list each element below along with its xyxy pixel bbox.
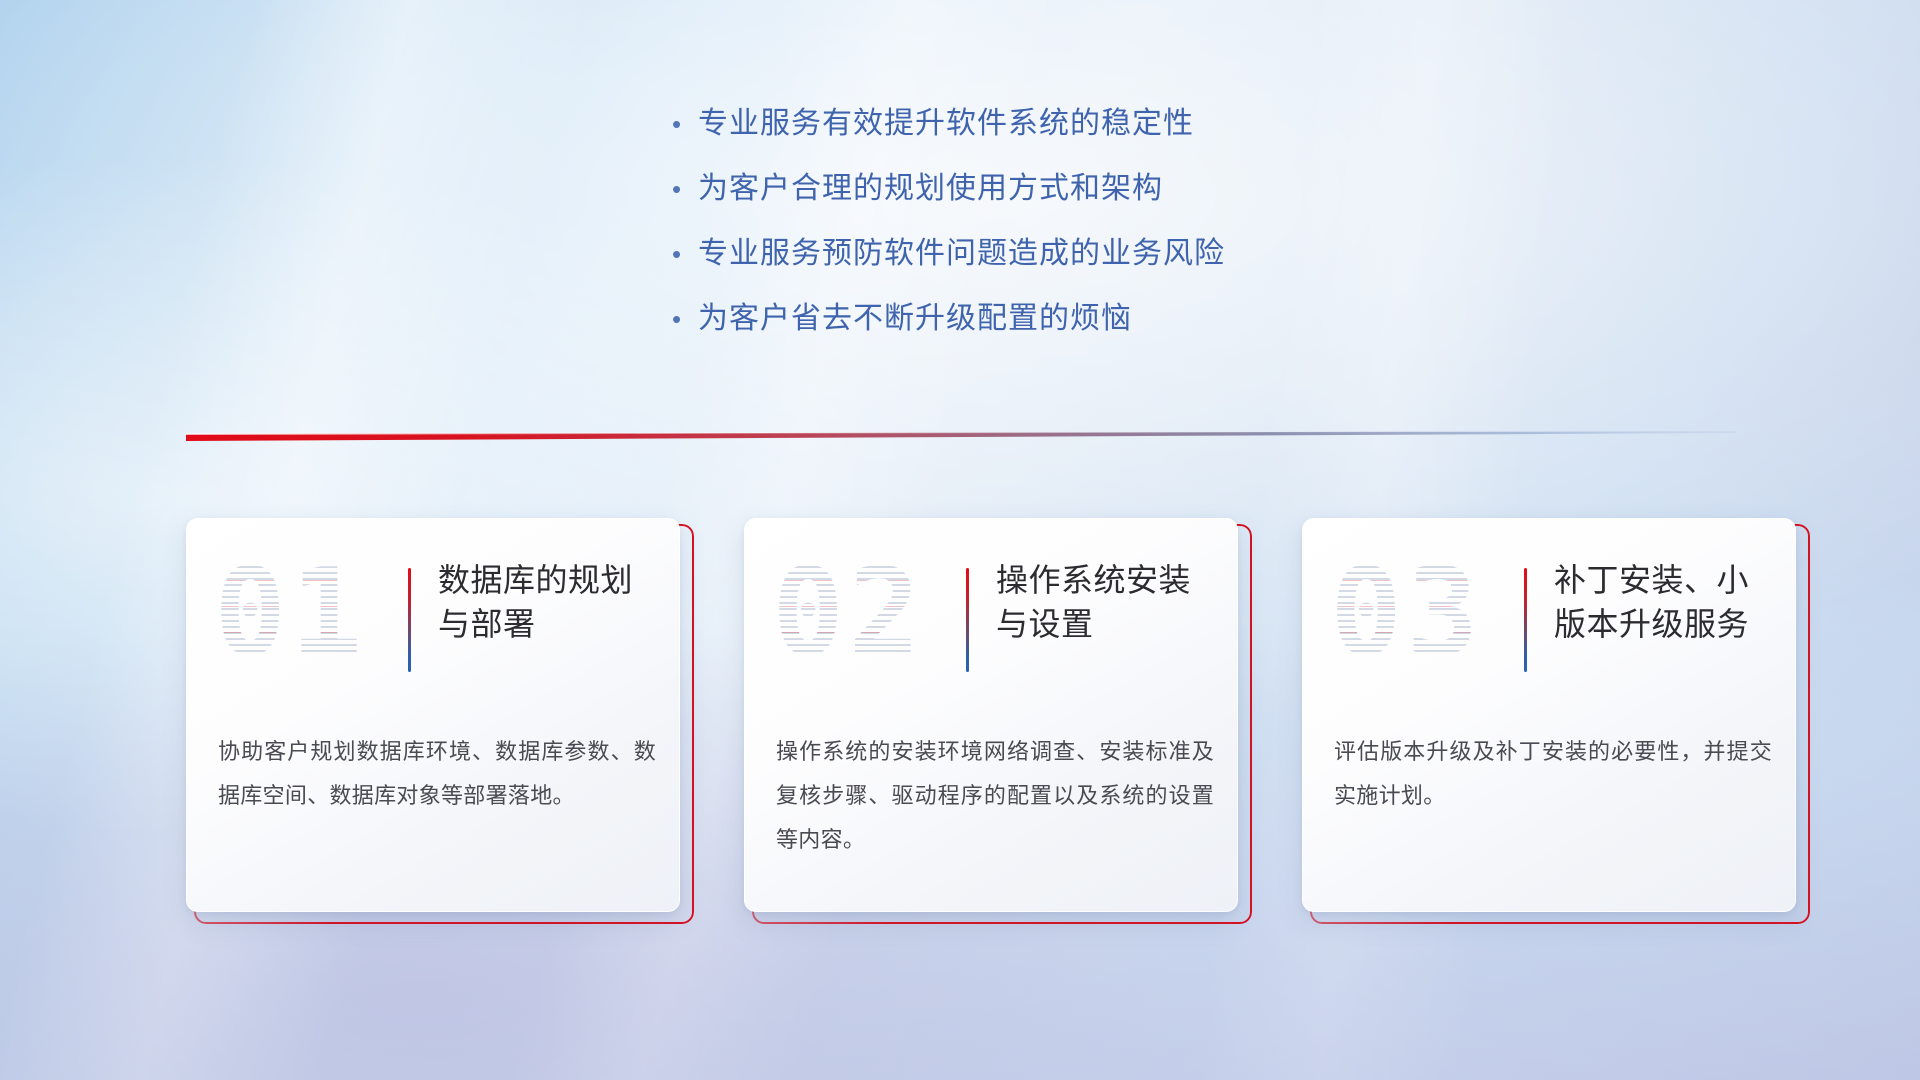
- card-number-watermark-accent: 03: [1330, 554, 1483, 674]
- card-title: 数据库的规划与部署: [438, 558, 656, 646]
- service-card-row: 01 01 数据库的规划与部署 协助客户规划数据库环境、数据库参数、数据库空间、…: [0, 518, 1920, 938]
- service-card[interactable]: 02 02 操作系统安装与设置 操作系统的安装环境网络调查、安装标准及复核步骤、…: [744, 518, 1244, 918]
- benefit-bullet-list: • 专业服务有效提升软件系统的稳定性 • 为客户合理的规划使用方式和架构 • 专…: [672, 108, 1432, 368]
- title-accent-rule: [966, 568, 969, 672]
- bullet-text: 专业服务有效提升软件系统的稳定性: [698, 108, 1194, 140]
- card-panel: 02 02 操作系统安装与设置 操作系统的安装环境网络调查、安装标准及复核步骤、…: [744, 518, 1238, 912]
- service-card[interactable]: 01 01 数据库的规划与部署 协助客户规划数据库环境、数据库参数、数据库空间、…: [186, 518, 686, 918]
- list-item: • 为客户合理的规划使用方式和架构: [672, 173, 1432, 238]
- tapered-rule-icon: [186, 420, 1736, 446]
- bullet-dot-icon: •: [672, 241, 698, 267]
- title-accent-rule: [1524, 568, 1527, 672]
- card-body-text: 操作系统的安装环境网络调查、安装标准及复核步骤、驱动程序的配置以及系统的设置等内…: [776, 730, 1214, 862]
- card-number-watermark-accent: 01: [214, 554, 367, 674]
- bullet-dot-icon: •: [672, 176, 698, 202]
- bullet-text: 为客户省去不断升级配置的烦恼: [698, 303, 1132, 335]
- card-panel: 01 01 数据库的规划与部署 协助客户规划数据库环境、数据库参数、数据库空间、…: [186, 518, 680, 912]
- card-number-watermark-accent: 02: [772, 554, 925, 674]
- slide-canvas: • 专业服务有效提升软件系统的稳定性 • 为客户合理的规划使用方式和架构 • 专…: [0, 0, 1920, 1080]
- card-body-text: 评估版本升级及补丁安装的必要性，并提交实施计划。: [1334, 730, 1772, 818]
- service-card[interactable]: 03 03 补丁安装、小版本升级服务 评估版本升级及补丁安装的必要性，并提交实施…: [1302, 518, 1802, 918]
- section-divider: [186, 420, 1736, 446]
- card-panel: 03 03 补丁安装、小版本升级服务 评估版本升级及补丁安装的必要性，并提交实施…: [1302, 518, 1796, 912]
- list-item: • 为客户省去不断升级配置的烦恼: [672, 303, 1432, 368]
- card-title: 补丁安装、小版本升级服务: [1554, 558, 1772, 646]
- bullet-text: 专业服务预防软件问题造成的业务风险: [698, 238, 1225, 270]
- card-title: 操作系统安装与设置: [996, 558, 1214, 646]
- bullet-dot-icon: •: [672, 306, 698, 332]
- bullet-text: 为客户合理的规划使用方式和架构: [698, 173, 1163, 205]
- card-body-text: 协助客户规划数据库环境、数据库参数、数据库空间、数据库对象等部署落地。: [218, 730, 656, 818]
- list-item: • 专业服务预防软件问题造成的业务风险: [672, 238, 1432, 303]
- list-item: • 专业服务有效提升软件系统的稳定性: [672, 108, 1432, 173]
- title-accent-rule: [408, 568, 411, 672]
- bullet-dot-icon: •: [672, 111, 698, 137]
